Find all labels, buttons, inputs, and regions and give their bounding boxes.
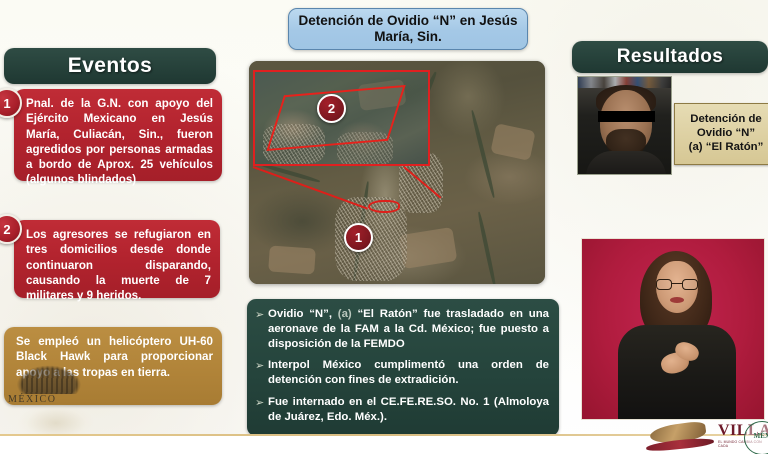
map-marker-1[interactable]: 1 <box>344 223 373 252</box>
map-marker-2[interactable]: 2 <box>317 94 346 123</box>
list-item-text-3: Fue internado en el CE.FE.RE.SO. No. 1 (… <box>268 395 549 425</box>
villa-logo-ring-text: MÉX <box>754 432 768 440</box>
slide-title: Detención de Ovidio “N” en Jesús María, … <box>288 8 528 50</box>
event-card-3: Se empleó un helicóptero UH-60 Black Haw… <box>4 327 222 405</box>
caption-line-2: Ovidio “N” <box>697 127 755 141</box>
results-list: ➢ Ovidio “N”, (a) “El Ratón” fue traslad… <box>247 299 559 436</box>
event-card-1: Pnal. de la G.N. con apoyo del Ejército … <box>14 89 222 181</box>
glasses-bridge <box>672 283 682 284</box>
map-highlight-zone <box>368 200 400 213</box>
map-field <box>268 245 316 274</box>
suspect-torso <box>586 151 666 175</box>
slide-canvas: Detención de Ovidio “N” en Jesús María, … <box>0 0 768 469</box>
list-item-text-2: Interpol México cumplimentó una orden de… <box>268 358 549 388</box>
glasses-icon <box>656 279 698 290</box>
list-item: ➢ Fue internado en el CE.FE.RE.SO. No. 1… <box>255 395 549 425</box>
suspect-photo <box>577 76 672 175</box>
eyes-censor-bar <box>598 111 655 122</box>
caption-line-1: Detención de <box>690 113 762 127</box>
list-item: ➢ Interpol México cumplimentó una orden … <box>255 358 549 388</box>
detention-caption: Detención de Ovidio “N” (a) “El Ratón” <box>674 103 768 165</box>
result-lead-1: Ovidio “N”, <box>268 308 332 320</box>
section-header-resultados: Resultados <box>572 41 768 73</box>
glasses-lens-right <box>682 279 698 290</box>
event-card-2: Los agresores se refugiaron en tres domi… <box>14 220 220 298</box>
glasses-lens-left <box>656 279 672 290</box>
arrow-bullet-icon: ➢ <box>255 395 268 410</box>
list-item: ➢ Ovidio “N”, (a) “El Ratón” fue traslad… <box>255 307 549 351</box>
villa-logo: VILLA EL MUNDO CAMBIA CON CADA MÉX <box>718 420 768 454</box>
section-header-eventos: Eventos <box>4 48 216 84</box>
list-item-text-1: Ovidio “N”, (a) “El Ratón” fue trasladad… <box>268 307 549 351</box>
arrow-bullet-icon: ➢ <box>255 358 268 373</box>
result-paren-1: (a) <box>338 308 352 320</box>
interpreter-lips <box>670 297 684 303</box>
arrow-bullet-icon: ➢ <box>255 307 268 322</box>
caption-line-3: (a) “El Ratón” <box>689 141 764 155</box>
government-eagle-logo <box>646 418 720 458</box>
sign-language-interpreter-video[interactable] <box>581 238 765 420</box>
